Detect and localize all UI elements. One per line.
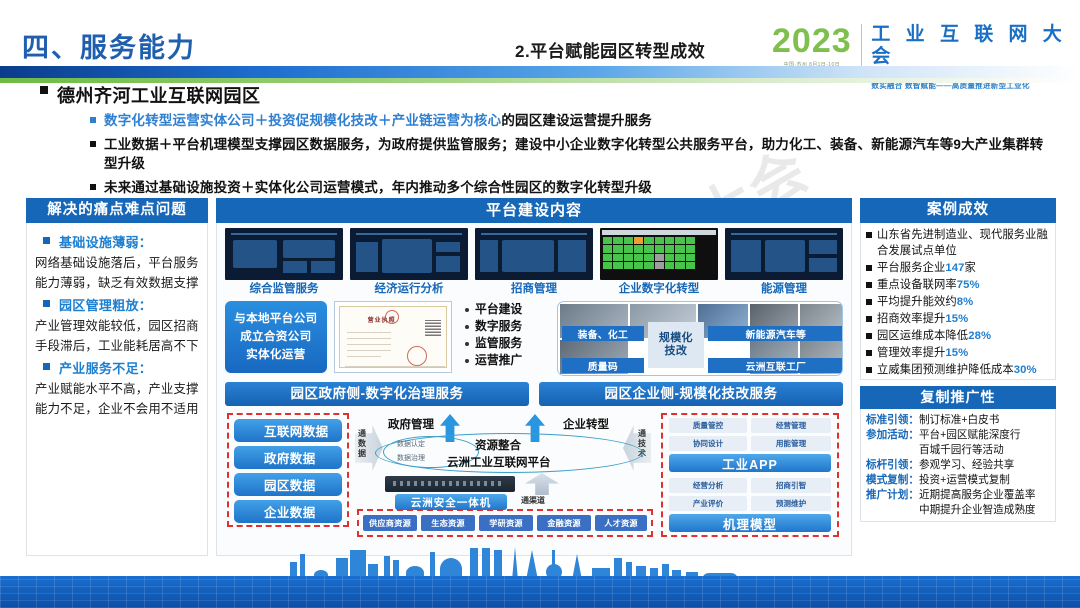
case-results-body: 山东省先进制造业、现代服务业融合发展试点单位 平台服务企业147家 重点设备联网… xyxy=(860,223,1056,380)
dashboard-screenshot-icon xyxy=(225,228,343,280)
replicate-row: 模式复制：投资+运营模式复制 xyxy=(866,473,1050,488)
thumbnail-caption: 能源管理 xyxy=(725,283,843,295)
left-panel-body: 基础设施薄弱： 网络基础设施落后，平台服务能力薄弱，缺乏有效数据支撑 园区管理粗… xyxy=(26,223,208,556)
jv-line-2: 成立合资公司 xyxy=(240,328,311,346)
bullet-block: 德州齐河工业互联网园区 数字化转型运营实体公司＋投资促规模化技改＋产业链运营为核… xyxy=(0,86,1080,197)
resource-button[interactable]: 人才资源 xyxy=(595,515,647,531)
right-panel: 案例成效 山东省先进制造业、现代服务业融合发展试点单位 平台服务企业147家 重… xyxy=(860,198,1056,556)
square-bullet-icon xyxy=(40,86,48,94)
result-item: 招商效率提升15% xyxy=(866,311,1050,327)
server-leds xyxy=(393,481,505,486)
replicate-row-cont: 中期提升企业智造成熟度 xyxy=(866,503,1050,518)
security-appliance-label: 云洲安全一体机 xyxy=(395,494,507,510)
square-bullet-icon xyxy=(90,184,96,190)
page-title: 四、服务能力 xyxy=(22,26,196,65)
thumbnail-caption: 企业数字化转型 xyxy=(600,283,718,295)
industry-photo-collage: 装备、化工 新能源汽车等 质量码 云洲互联工厂 规模化 技改 xyxy=(557,301,843,376)
pain-point-body: 网络基础设施落后，平台服务能力薄弱，缺乏有效数据支撑 xyxy=(35,253,199,293)
app-tile[interactable]: 用能管理 xyxy=(751,436,831,451)
header-bar-green xyxy=(0,78,1080,83)
left-panel-title: 解决的痛点难点问题 xyxy=(26,198,208,223)
dashboard-screenshot-icon xyxy=(725,228,843,280)
bullet-main-label: 德州齐河工业互联网园区 xyxy=(57,86,261,106)
thumbnail-caption: 经济运行分析 xyxy=(350,283,468,295)
result-item: 园区运维成本降低28% xyxy=(866,328,1050,344)
service-item: 数字服务 xyxy=(465,318,550,335)
pain-point-body: 产业赋能水平不高，产业支撑能力不足，企业不会用不适用 xyxy=(35,379,199,419)
data-source-button[interactable]: 企业数据 xyxy=(234,500,342,523)
header-bar-blue xyxy=(0,66,1080,78)
platform-thumbnail[interactable]: 能源管理 xyxy=(725,228,843,295)
replicate-body: 标准引领：制订标准+白皮书 参加活动：平台+园区赋能深度行 百城千园行等活动 标… xyxy=(860,409,1056,522)
industry-label: 质量码 xyxy=(562,358,644,373)
result-text: 山东省先进制造业、现代服务业融合发展试点单位 xyxy=(877,227,1050,259)
thumbnail-caption: 综合监管服务 xyxy=(225,283,343,295)
resource-button[interactable]: 生态资源 xyxy=(421,515,475,531)
square-bullet-icon xyxy=(90,141,96,147)
platform-middle-row: 与本地平台公司 成立合资公司 实体化运营 营业执照 xyxy=(217,295,851,376)
replicate-row: 标杆引领：参观学习、经验共享 xyxy=(866,458,1050,473)
square-bullet-icon xyxy=(43,300,50,307)
bottom-channel-label: 通渠道 xyxy=(521,495,545,506)
bullet-sub-2-label: 工业数据＋平台机理模型支撑园区数据服务，为政府提供监管服务；建设中小企业数字化转… xyxy=(104,135,1050,173)
architecture-diagram: 互联网数据 政府数据 园区数据 企业数据 通数据 通技术 政府管理 企业转型 资… xyxy=(225,411,843,545)
slide-header: 四、服务能力 2.平台赋能园区转型成效 2023 中国·苏州 8月1日-10日 … xyxy=(0,0,1080,88)
pain-point-item: 产业服务不足： 产业赋能水平不高，产业支撑能力不足，企业不会用不适用 xyxy=(35,358,199,419)
sub-header-row: 园区政府侧-数字化治理服务 园区企业侧-规模化技改服务 xyxy=(217,376,851,406)
pain-point-head: 园区管理粗放： xyxy=(59,295,152,314)
replicate-title: 复制推广性 xyxy=(860,386,1056,409)
replicate-row: 标准引领：制订标准+白皮书 xyxy=(866,413,1050,428)
platform-thumbnail[interactable]: 经济运行分析 xyxy=(350,228,468,295)
model-tile[interactable]: 经营分析 xyxy=(669,478,747,493)
data-channel-label: 通数据 xyxy=(357,429,367,459)
square-bullet-icon xyxy=(43,363,50,370)
pain-point-head: 产业服务不足： xyxy=(59,358,152,377)
ellipse-line-1: 资源整合 xyxy=(475,437,521,453)
pain-point-item: 基础设施薄弱： 网络基础设施落后，平台服务能力薄弱，缺乏有效数据支撑 xyxy=(35,232,199,293)
jv-line-1: 与本地平台公司 xyxy=(234,310,317,328)
pain-point-item: 园区管理粗放： 产业管理效能较低，园区招商手段滞后，工业能耗居高不下 xyxy=(35,295,199,356)
section-subtitle: 2.平台赋能园区转型成效 xyxy=(515,37,705,62)
platform-thumbnail[interactable]: 综合监管服务 xyxy=(225,228,343,295)
joint-venture-box: 与本地平台公司 成立合资公司 实体化运营 xyxy=(225,301,327,373)
channel-up-arrow-icon xyxy=(525,473,559,495)
ellipse-sub-label: 数据认定 xyxy=(397,439,425,449)
center-panel-title: 平台建设内容 xyxy=(216,198,852,223)
logo-divider xyxy=(861,24,863,68)
sub-header-ent[interactable]: 园区企业侧-规模化技改服务 xyxy=(539,382,843,406)
app-tile[interactable]: 质量管控 xyxy=(669,418,747,433)
industry-label: 装备、化工 xyxy=(562,326,644,341)
jv-line-3: 实体化运营 xyxy=(246,346,305,364)
result-item: 立威集团预测维护降低成本30% xyxy=(866,362,1050,378)
bullet-sub-3: 未来通过基础设施投资＋实体化公司运营模式，年内推动多个综合性园区的数字化转型升级 xyxy=(90,178,1080,197)
data-source-button[interactable]: 政府数据 xyxy=(234,446,342,469)
replicate-row: 参加活动：平台+园区赋能深度行 xyxy=(866,428,1050,443)
pain-point-body: 产业管理效能较低，园区招商手段滞后，工业能耗居高不下 xyxy=(35,316,199,356)
bullet-main: 德州齐河工业互联网园区 xyxy=(40,86,1080,106)
result-item: 平均提升能效约8% xyxy=(866,294,1050,310)
city-skyline-icon xyxy=(280,546,800,580)
bullet-sub-3-label: 未来通过基础设施投资＋实体化公司运营模式，年内推动多个综合性园区的数字化转型升级 xyxy=(104,178,652,197)
mechanism-model-label: 机理模型 xyxy=(669,514,831,532)
slide-footer xyxy=(0,556,1080,608)
industry-center-label: 规模化 技改 xyxy=(648,322,704,368)
thumbnail-caption: 招商管理 xyxy=(475,283,593,295)
dashboard-screenshot-icon xyxy=(475,228,593,280)
result-item: 管理效率提升15% xyxy=(866,345,1050,361)
right-panel-title: 案例成效 xyxy=(860,198,1056,223)
industry-label: 新能源汽车等 xyxy=(708,326,843,341)
industry-label: 云洲互联工厂 xyxy=(708,358,843,373)
app-tile[interactable]: 经营管理 xyxy=(751,418,831,433)
data-source-button[interactable]: 园区数据 xyxy=(234,473,342,496)
bullet-sub-1: 数字化转型运营实体公司＋投资促规模化技改＋产业链运营为核心的园区建设运营提升服务 xyxy=(90,111,1080,130)
result-item: 平台服务企业147家 xyxy=(866,260,1050,276)
resource-button[interactable]: 学研资源 xyxy=(479,515,533,531)
platform-thumbnail[interactable]: 招商管理 xyxy=(475,228,593,295)
result-item: 山东省先进制造业、现代服务业融合发展试点单位 xyxy=(866,227,1050,259)
bullet-sub-1-rest: 的园区建设运营提升服务 xyxy=(501,113,652,128)
data-source-button[interactable]: 互联网数据 xyxy=(234,419,342,442)
service-item: 平台建设 xyxy=(465,301,550,318)
model-tile[interactable]: 招商引智 xyxy=(751,478,831,493)
replicate-row-cont: 百城千园行等活动 xyxy=(866,443,1050,458)
replicate-row: 推广计划：近期提高服务企业覆盖率 xyxy=(866,488,1050,503)
pain-point-head: 基础设施薄弱： xyxy=(59,232,152,251)
industrial-app-label: 工业APP xyxy=(669,454,831,472)
ellipse-line-2: 云洲工业互联网平台 xyxy=(447,454,551,470)
sub-header-gov[interactable]: 园区政府侧-数字化治理服务 xyxy=(225,382,529,406)
bullet-sub-1-hl: 数字化转型运营实体公司＋投资促规模化技改＋产业链运营为核心 xyxy=(104,113,501,128)
service-list: 平台建设 数字服务 监管服务 运营推广 xyxy=(459,301,550,369)
slide-root: 2023工业互联网大会 四、服务能力 2.平台赋能园区转型成效 2023 中国·… xyxy=(0,0,1080,608)
service-item: 监管服务 xyxy=(465,335,550,352)
square-bullet-icon xyxy=(90,117,96,123)
app-tile[interactable]: 协同设计 xyxy=(669,436,747,451)
footer-grid xyxy=(0,576,1080,608)
logo-cn-title: 工 业 互 联 网 大 会 xyxy=(871,24,1072,68)
grid-status-screenshot-icon xyxy=(600,228,718,280)
model-tile[interactable]: 预测维护 xyxy=(751,496,831,511)
left-panel: 解决的痛点难点问题 基础设施薄弱： 网络基础设施落后，平台服务能力薄弱，缺乏有效… xyxy=(26,198,208,556)
ellipse-sub-label: 数据治理 xyxy=(397,453,425,463)
platform-thumbnail-row: 综合监管服务 经济运行分析 xyxy=(217,223,851,295)
resource-button[interactable]: 金融资源 xyxy=(537,515,591,531)
square-bullet-icon xyxy=(43,237,50,244)
result-item: 重点设备联网率75% xyxy=(866,277,1050,293)
center-panel-body: 综合监管服务 经济运行分析 xyxy=(216,223,852,556)
service-item: 运营推广 xyxy=(465,352,550,369)
resource-button[interactable]: 供应商资源 xyxy=(363,515,417,531)
business-license-image: 营业执照 xyxy=(334,301,452,373)
logo-year: 2023 xyxy=(772,24,852,58)
gov-manage-label: 政府管理 xyxy=(388,416,434,432)
platform-thumbnail[interactable]: 企业数字化转型 xyxy=(600,228,718,295)
bullet-sub-2: 工业数据＋平台机理模型支撑园区数据服务，为政府提供监管服务；建设中小企业数字化转… xyxy=(90,135,1050,173)
ent-transform-label: 企业转型 xyxy=(563,416,609,432)
model-tile[interactable]: 产业评价 xyxy=(669,496,747,511)
replicate-panel: 复制推广性 标准引领：制订标准+白皮书 参加活动：平台+园区赋能深度行 百城千园… xyxy=(860,386,1056,522)
dashboard-screenshot-icon xyxy=(350,228,468,280)
center-panel: 平台建设内容 综合监管服务 xyxy=(216,198,852,556)
